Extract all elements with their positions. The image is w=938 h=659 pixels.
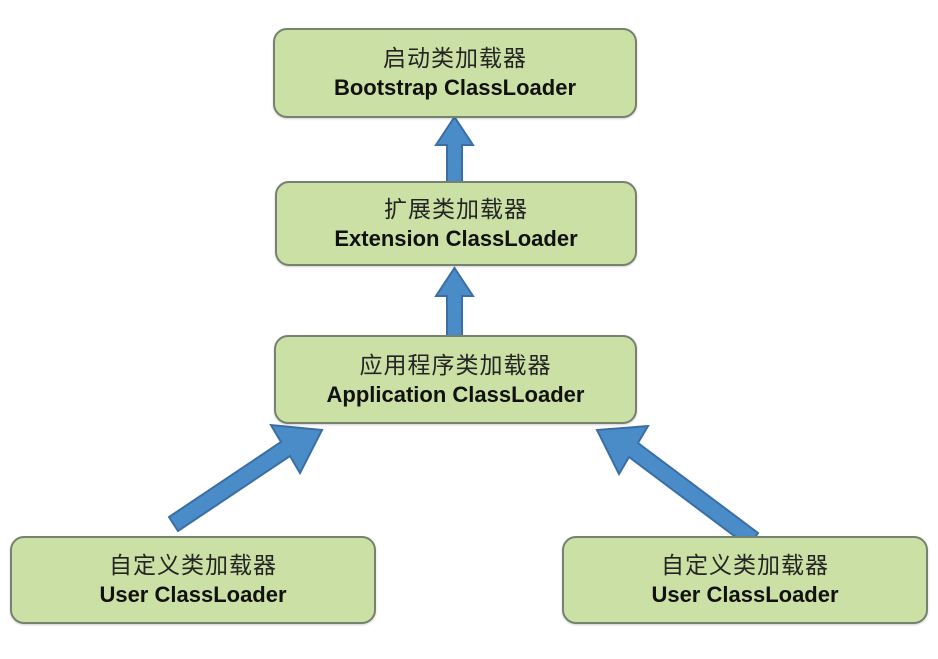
- node-user-left-label-cn: 自定义类加载器: [109, 551, 277, 579]
- node-extension-label-cn: 扩展类加载器: [384, 195, 528, 223]
- classloader-hierarchy-diagram: 启动类加载器 Bootstrap ClassLoader 扩展类加载器 Exte…: [0, 0, 938, 659]
- node-user-right-label-cn: 自定义类加载器: [661, 551, 829, 579]
- node-bootstrap-classloader[interactable]: 启动类加载器 Bootstrap ClassLoader: [273, 28, 637, 118]
- node-user-classloader-left[interactable]: 自定义类加载器 User ClassLoader: [10, 536, 376, 624]
- node-user-right-label-en: User ClassLoader: [651, 581, 838, 609]
- node-user-left-label-en: User ClassLoader: [99, 581, 286, 609]
- node-application-label-cn: 应用程序类加载器: [360, 351, 552, 379]
- node-bootstrap-label-cn: 启动类加载器: [383, 44, 527, 72]
- node-application-classloader[interactable]: 应用程序类加载器 Application ClassLoader: [274, 335, 637, 424]
- arrow-user-right-to-application: [597, 426, 758, 547]
- node-user-classloader-right[interactable]: 自定义类加载器 User ClassLoader: [562, 536, 928, 624]
- node-application-label-en: Application ClassLoader: [327, 381, 585, 409]
- node-bootstrap-label-en: Bootstrap ClassLoader: [334, 74, 576, 102]
- arrow-application-to-extension: [436, 268, 473, 336]
- arrow-user-left-to-application: [169, 425, 322, 531]
- node-extension-label-en: Extension ClassLoader: [334, 225, 577, 253]
- arrow-extension-to-bootstrap: [436, 117, 473, 182]
- node-extension-classloader[interactable]: 扩展类加载器 Extension ClassLoader: [275, 181, 637, 266]
